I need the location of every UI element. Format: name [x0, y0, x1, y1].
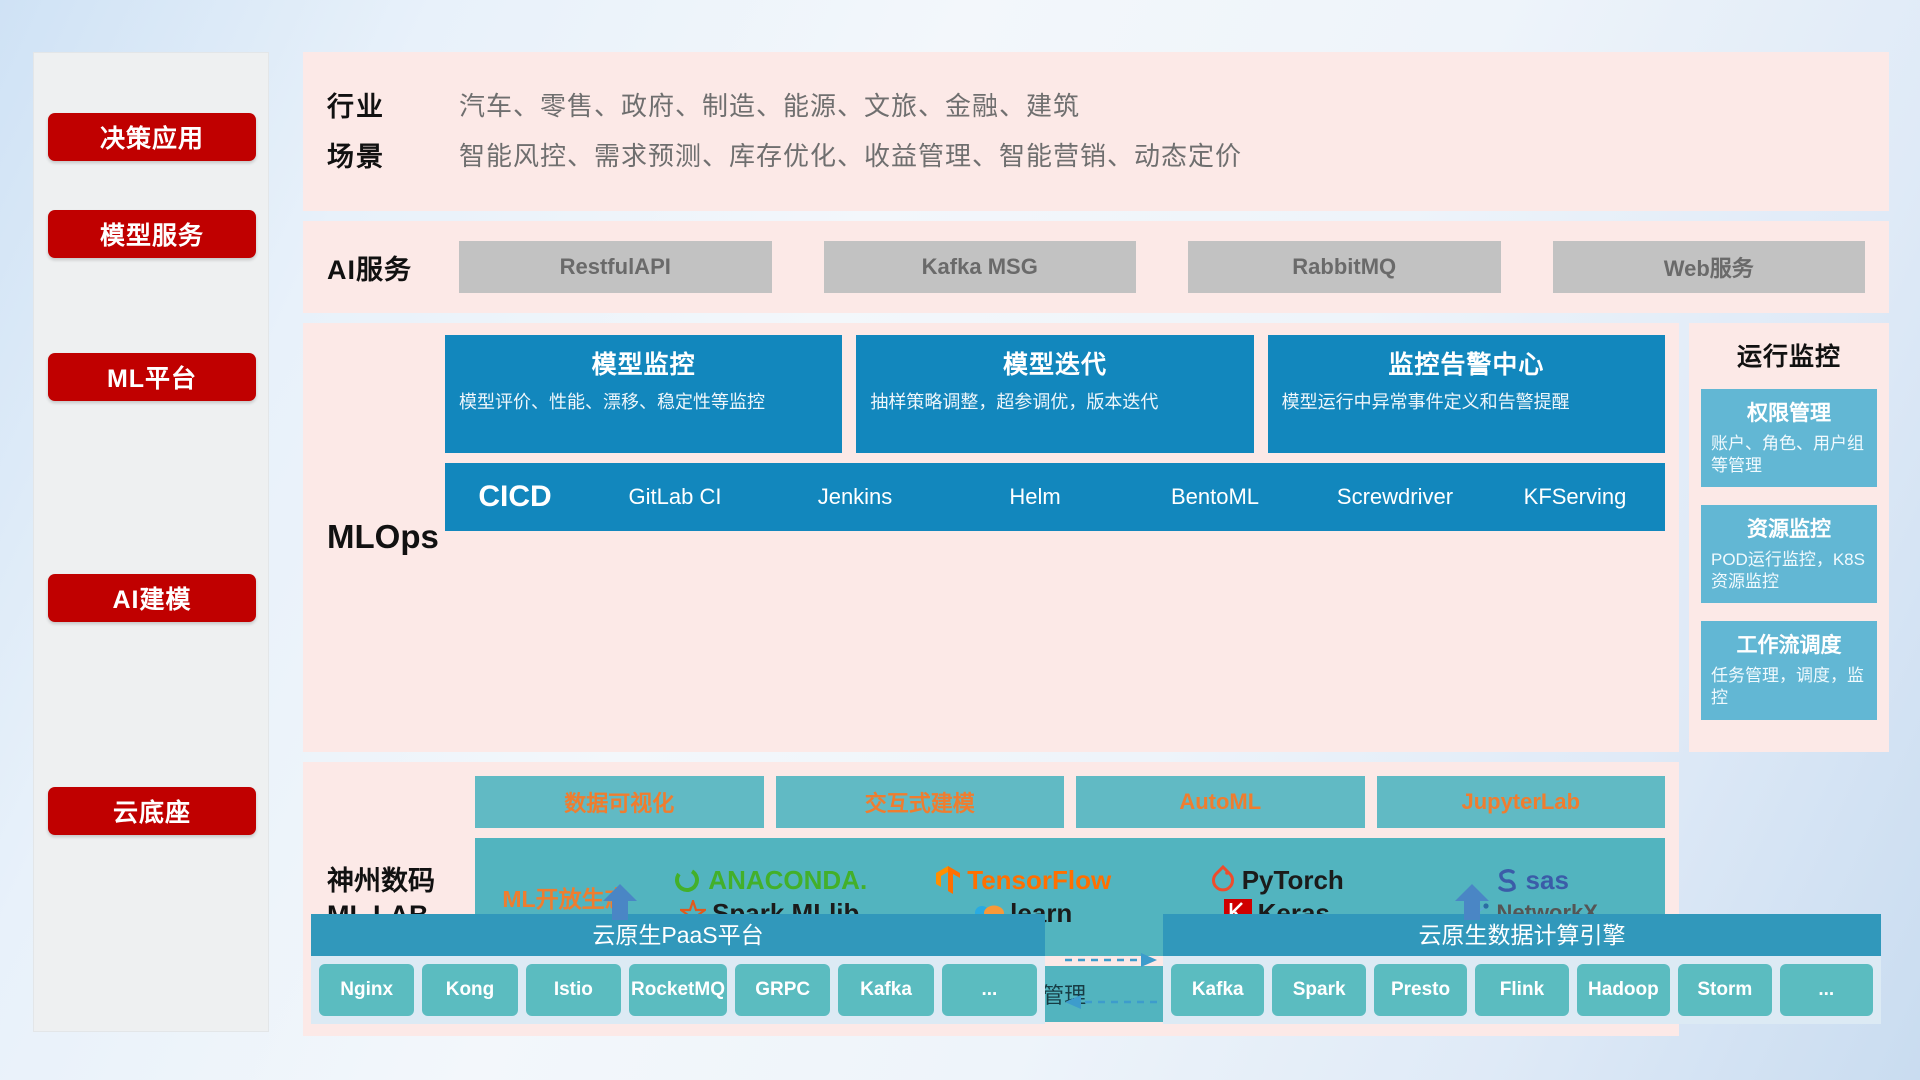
cicd-title: CICD	[445, 480, 585, 514]
service-chip-restfulapi[interactable]: RestfulAPI	[459, 241, 772, 293]
cicd-item-helm[interactable]: Helm	[945, 485, 1125, 508]
monitor-card-workflow[interactable]: 工作流调度 任务管理，调度，监控	[1701, 621, 1877, 719]
cicd-item-kfserving[interactable]: KFServing	[1485, 485, 1665, 508]
scenario-value: 智能风控、需求预测、库存优化、收益管理、智能营销、动态定价	[459, 136, 1242, 173]
card-title: 监控告警中心	[1282, 345, 1651, 381]
dashed-arrow-icon	[1063, 950, 1159, 1014]
paas-chip-kong[interactable]: Kong	[422, 964, 517, 1016]
card-desc: 抽样策略调整，超参调优，版本迭代	[870, 390, 1239, 414]
data-chip-presto[interactable]: Presto	[1374, 964, 1467, 1016]
industry-row: 行业 汽车、零售、政府、制造、能源、文旅、金融、建筑	[327, 85, 1865, 124]
rail-item-decision-apps[interactable]: 决策应用	[48, 113, 256, 161]
tensorflow-wordmark: TensorFlow	[967, 865, 1111, 896]
paas-chip-list: Nginx Kong Istio RocketMQ GRPC Kafka ...	[311, 956, 1045, 1024]
rail-item-ai-modeling[interactable]: AI建模	[48, 574, 256, 622]
paas-chip-grpc[interactable]: GRPC	[735, 964, 830, 1016]
service-chip-kafka-msg[interactable]: Kafka MSG	[824, 241, 1137, 293]
mlops-label: MLOps	[327, 335, 445, 740]
data-chip-spark[interactable]: Spark	[1272, 964, 1365, 1016]
card-title: 权限管理	[1711, 397, 1867, 427]
card-desc: 模型评价、性能、漂移、稳定性等监控	[459, 390, 828, 414]
rail-item-cloud-base[interactable]: 云底座	[48, 787, 256, 835]
cloud-data-engine-group: 云原生数据计算引擎 Kafka Spark Presto Flink Hadoo…	[1163, 914, 1881, 1024]
cicd-bar: CICD GitLab CI Jenkins Helm BentoML Scre…	[445, 463, 1665, 531]
sas-wordmark: sas	[1526, 865, 1569, 896]
card-desc: POD运行监控，K8S资源监控	[1711, 549, 1867, 593]
industry-value: 汽车、零售、政府、制造、能源、文旅、金融、建筑	[459, 86, 1080, 123]
paas-chip-istio[interactable]: Istio	[526, 964, 621, 1016]
paas-up-arrow-icon	[603, 884, 637, 920]
cloud-paas-group: 云原生PaaS平台 Nginx Kong Istio RocketMQ GRPC…	[311, 914, 1045, 1024]
lab-tool-data-visualization[interactable]: 数据可视化	[475, 776, 764, 828]
pytorch-flame-icon	[1210, 865, 1236, 895]
rail-item-ml-platform[interactable]: ML平台	[48, 353, 256, 401]
industry-label: 行业	[327, 85, 459, 124]
card-title: 工作流调度	[1711, 629, 1867, 659]
card-desc: 账户、角色、用户组等管理	[1711, 433, 1867, 477]
mlops-card-model-iteration[interactable]: 模型迭代 抽样策略调整，超参调优，版本迭代	[856, 335, 1253, 453]
rail-label: 云底座	[113, 793, 191, 829]
scenario-label: 场景	[327, 135, 459, 174]
tensorflow-logo: TensorFlow	[935, 865, 1111, 896]
pytorch-wordmark: PyTorch	[1242, 865, 1344, 896]
data-chip-hadoop[interactable]: Hadoop	[1577, 964, 1670, 1016]
runtime-monitor-panel: 运行监控 权限管理 账户、角色、用户组等管理 资源监控 POD运行监控，K8S资…	[1689, 323, 1889, 752]
monitor-card-permission[interactable]: 权限管理 账户、角色、用户组等管理	[1701, 389, 1877, 487]
anaconda-wordmark: ANACONDA.	[708, 865, 867, 896]
sas-swirl-icon	[1492, 865, 1520, 895]
pytorch-logo: PyTorch	[1210, 865, 1344, 896]
rail-label: 决策应用	[100, 119, 204, 155]
lab-tool-interactive-modeling[interactable]: 交互式建模	[776, 776, 1065, 828]
rail-label: ML平台	[107, 359, 197, 395]
tensorflow-mark-icon	[935, 865, 961, 895]
rail-label: AI建模	[112, 580, 191, 616]
anaconda-logo: ANACONDA.	[672, 865, 867, 896]
mlops-card-alert-center[interactable]: 监控告警中心 模型运行中异常事件定义和告警提醒	[1268, 335, 1665, 453]
card-title: 模型迭代	[870, 345, 1239, 381]
data-chip-more[interactable]: ...	[1780, 964, 1873, 1016]
data-chip-flink[interactable]: Flink	[1475, 964, 1568, 1016]
ai-service-list: RestfulAPI Kafka MSG RabbitMQ Web服务	[459, 241, 1865, 293]
monitor-panel-title: 运行监控	[1701, 337, 1877, 373]
service-chip-web-service[interactable]: Web服务	[1553, 241, 1866, 293]
data-chip-storm[interactable]: Storm	[1678, 964, 1771, 1016]
lab-tool-automl[interactable]: AutoML	[1076, 776, 1365, 828]
data-chip-kafka[interactable]: Kafka	[1171, 964, 1264, 1016]
sas-logo: sas	[1492, 865, 1569, 896]
cicd-item-jenkins[interactable]: Jenkins	[765, 485, 945, 508]
cicd-item-list: GitLab CI Jenkins Helm BentoML Screwdriv…	[585, 485, 1665, 508]
scenario-row: 场景 智能风控、需求预测、库存优化、收益管理、智能营销、动态定价	[327, 135, 1865, 174]
card-title: 资源监控	[1711, 513, 1867, 543]
ai-service-label: AI服务	[327, 248, 459, 287]
anaconda-ring-icon	[672, 865, 702, 895]
data-engine-title: 云原生数据计算引擎	[1163, 914, 1881, 956]
cicd-item-screwdriver[interactable]: Screwdriver	[1305, 485, 1485, 508]
paas-title: 云原生PaaS平台	[311, 914, 1045, 956]
cloud-foundation-layer: 云原生PaaS平台 Nginx Kong Istio RocketMQ GRPC…	[303, 892, 1889, 1042]
cicd-item-gitlab-ci[interactable]: GitLab CI	[585, 485, 765, 508]
ai-service-band: AI服务 RestfulAPI Kafka MSG RabbitMQ Web服务	[303, 221, 1889, 313]
rail-item-model-service[interactable]: 模型服务	[48, 210, 256, 258]
card-desc: 模型运行中异常事件定义和告警提醒	[1282, 390, 1651, 414]
paas-chip-nginx[interactable]: Nginx	[319, 964, 414, 1016]
cicd-item-bentoml[interactable]: BentoML	[1125, 485, 1305, 508]
rail-label: 模型服务	[100, 216, 204, 252]
mlops-card-list: 模型监控 模型评价、性能、漂移、稳定性等监控 模型迭代 抽样策略调整，超参调优，…	[445, 335, 1665, 453]
card-title: 模型监控	[459, 345, 828, 381]
bidirectional-link-arrows	[1063, 950, 1159, 1019]
mlops-card-model-monitoring[interactable]: 模型监控 模型评价、性能、漂移、稳定性等监控	[445, 335, 842, 453]
business-band: 行业 汽车、零售、政府、制造、能源、文旅、金融、建筑 场景 智能风控、需求预测、…	[303, 52, 1889, 211]
paas-chip-kafka[interactable]: Kafka	[838, 964, 933, 1016]
lab-tool-jupyterlab[interactable]: JupyterLab	[1377, 776, 1666, 828]
data-engine-chip-list: Kafka Spark Presto Flink Hadoop Storm ..…	[1163, 956, 1881, 1024]
mlops-band: MLOps 模型监控 模型评价、性能、漂移、稳定性等监控 模型迭代 抽样策略调整…	[303, 323, 1679, 752]
paas-chip-rocketmq[interactable]: RocketMQ	[629, 964, 727, 1016]
card-desc: 任务管理，调度，监控	[1711, 665, 1867, 709]
monitor-card-resource[interactable]: 资源监控 POD运行监控，K8S资源监控	[1701, 505, 1877, 603]
paas-chip-more[interactable]: ...	[942, 964, 1037, 1016]
layer-rail: 决策应用 模型服务 ML平台 AI建模 云底座	[33, 52, 269, 1032]
ml-lab-tool-list: 数据可视化 交互式建模 AutoML JupyterLab	[475, 776, 1665, 828]
service-chip-rabbitmq[interactable]: RabbitMQ	[1188, 241, 1501, 293]
data-engine-up-arrow-icon	[1455, 884, 1489, 920]
